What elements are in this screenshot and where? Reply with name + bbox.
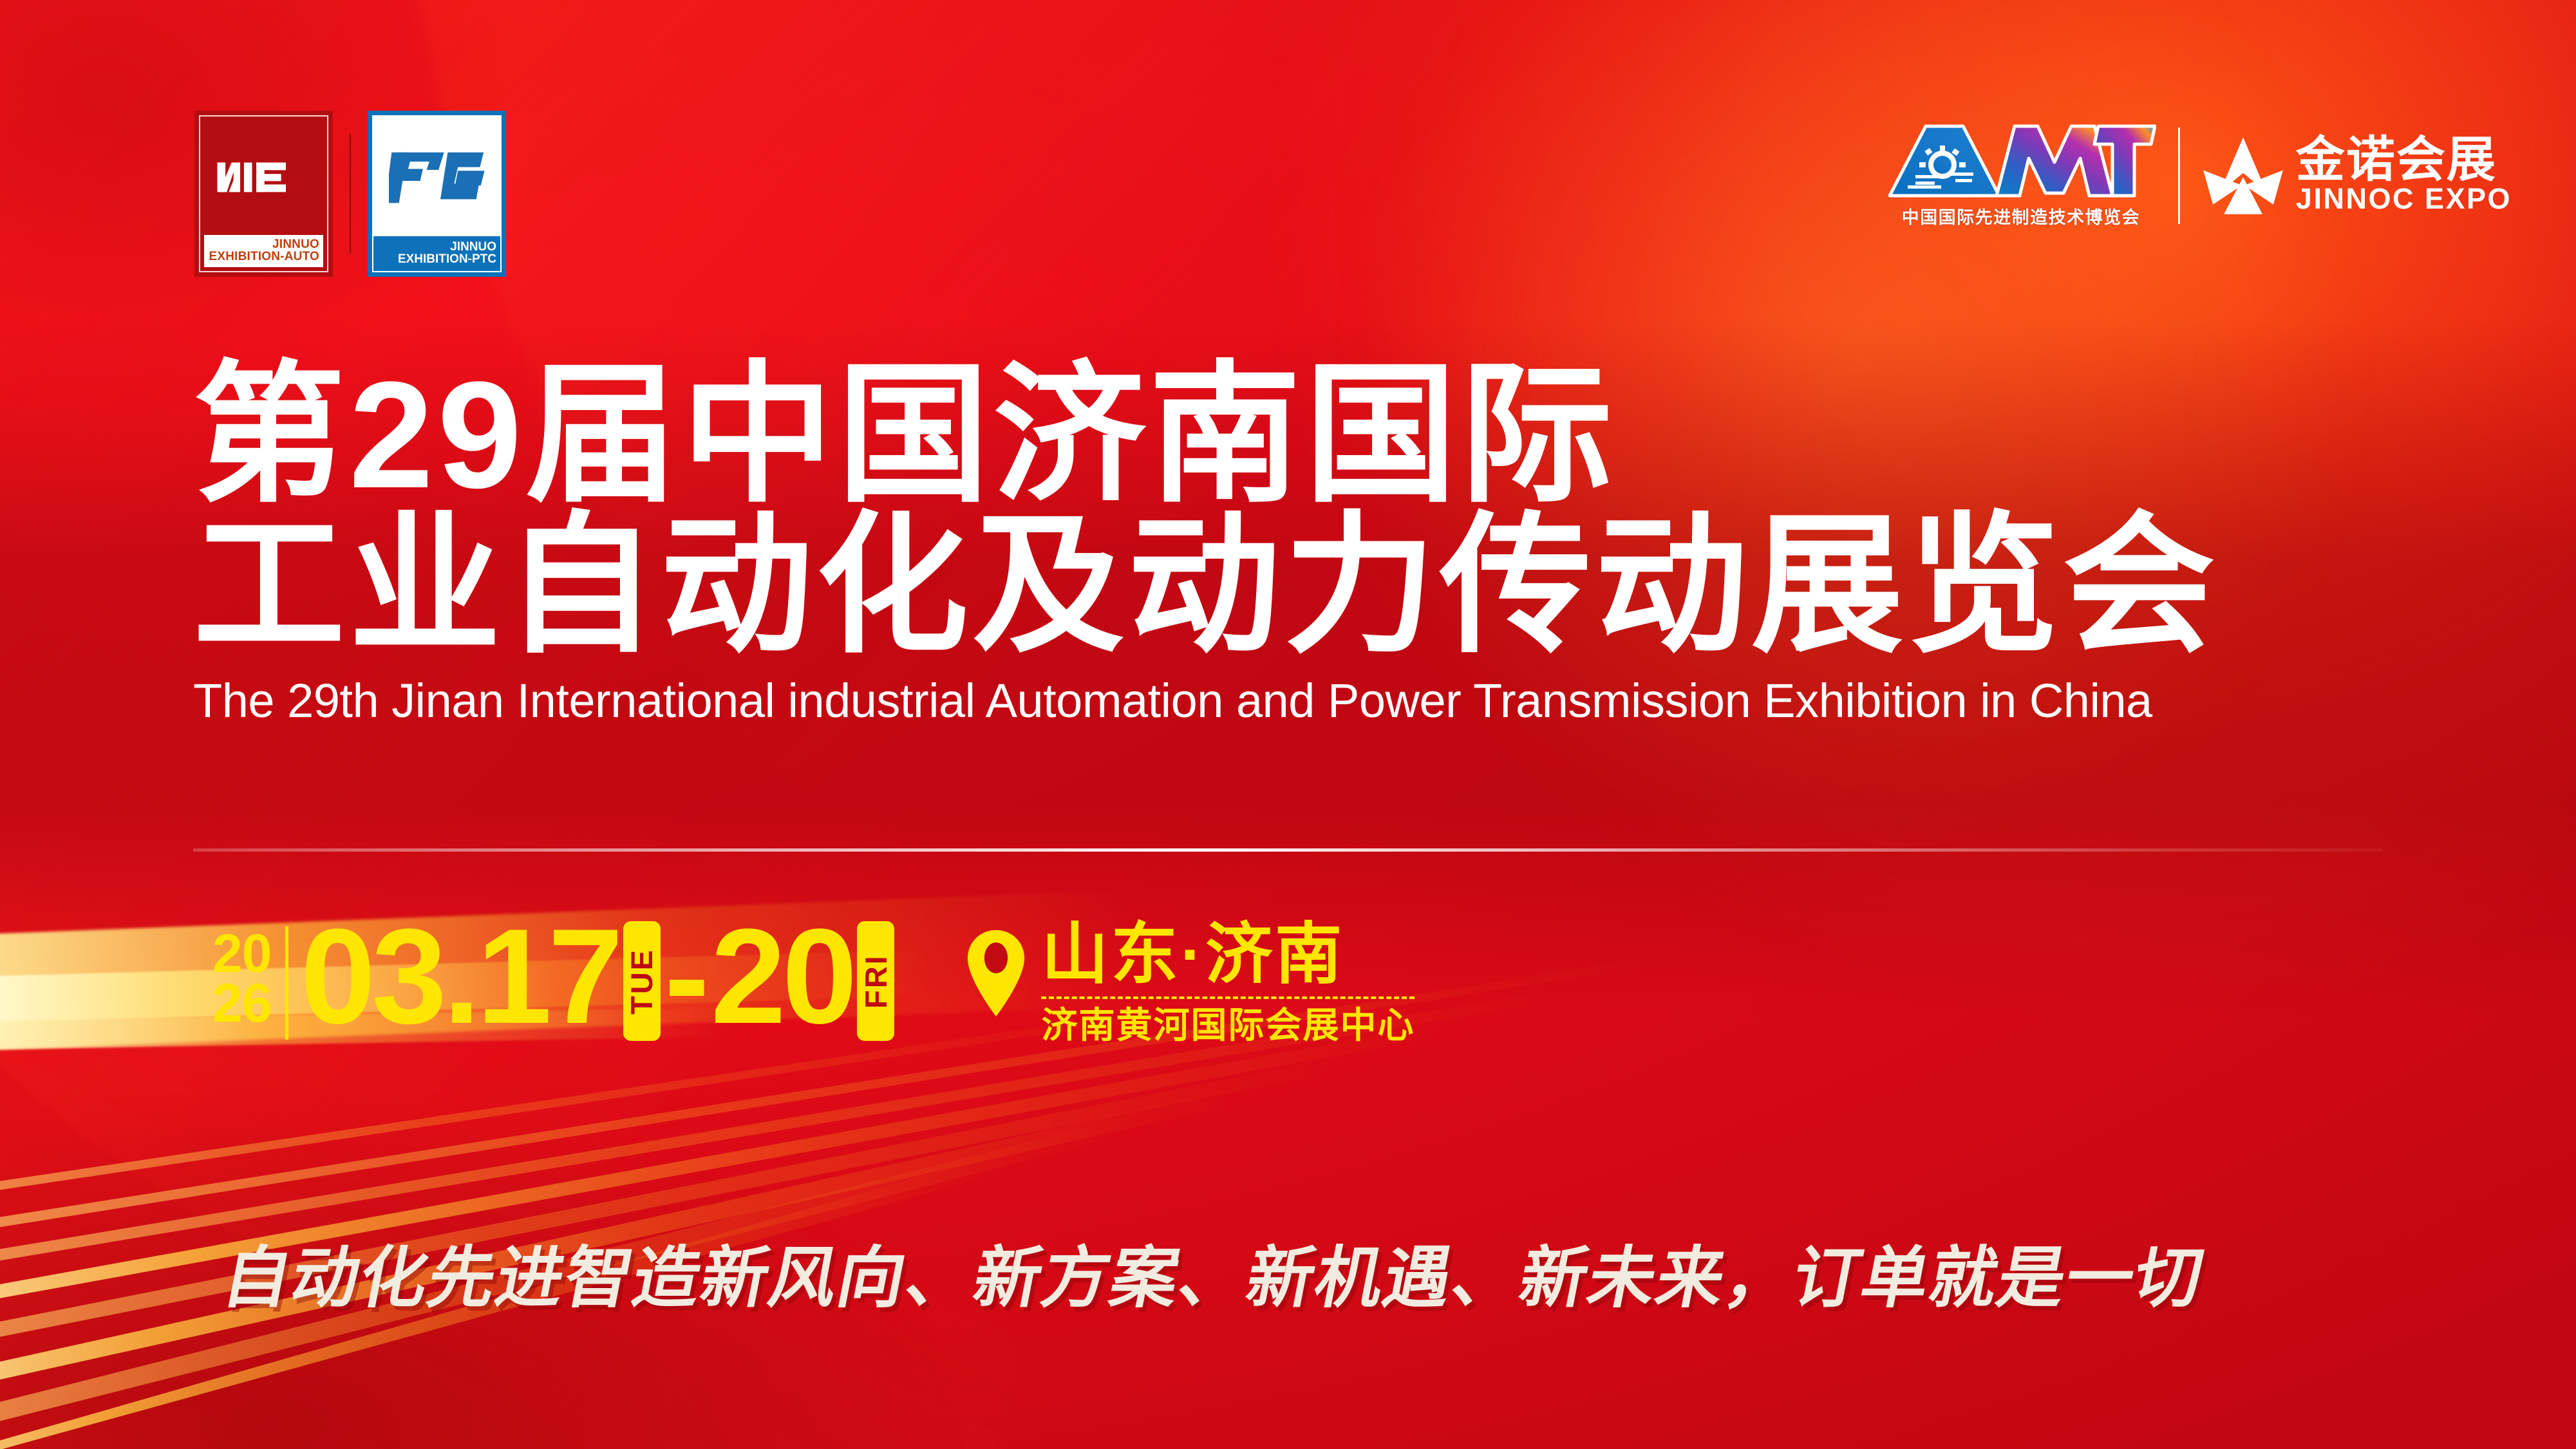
iaie-tag-line2: EXHIBITION-AUTO	[208, 250, 319, 263]
ptc-mark-icon	[373, 117, 500, 236]
ptc-tagline: JINNUO EXHIBITION-PTC	[373, 236, 500, 271]
title-line-2: 工业自动化及动力传动展览会	[193, 509, 2395, 664]
jinnoc-name-en: JINNOC EXPO	[2296, 183, 2512, 214]
event-date-separator: -	[664, 917, 710, 1036]
event-venue: 山东·济南 济南黄河国际会展中心	[965, 920, 1415, 1045]
organizer-logo-group: JINNUO EXHIBITION-AUTO	[194, 111, 506, 277]
event-slogan: 自动化先进智造新风向、新方案、新机遇、新未来，订单就是一切	[216, 1223, 2214, 1320]
event-year-bottom: 26	[212, 978, 271, 1028]
partner-divider	[2178, 127, 2180, 224]
year-date-separator	[285, 926, 288, 1040]
event-day-start-label: TUE	[624, 948, 659, 1014]
title-line-1: 第29届中国济南国际	[193, 360, 2395, 511]
iaie-logo: JINNUO EXHIBITION-AUTO	[194, 111, 333, 277]
event-year-top: 20	[212, 929, 271, 978]
event-day-end-badge: FRI	[857, 921, 894, 1041]
iaie-tagline: JINNUO EXHIBITION-AUTO	[204, 235, 323, 267]
event-date-end: 20	[711, 917, 854, 1036]
jinnoc-star-icon	[2202, 135, 2284, 217]
jinnoc-name-cn: 金诺会展	[2296, 137, 2512, 183]
event-day-start-badge: TUE	[623, 921, 661, 1041]
exhibition-poster: JINNUO EXHIBITION-AUTO	[0, 0, 2576, 1449]
location-pin-icon	[965, 929, 1027, 1018]
title-divider-rule	[193, 848, 2382, 852]
amt-subtitle: 中国国际先进制造技术博览会	[1902, 203, 2141, 229]
event-info-row: 20 26 03.17 TUE - 20 FRI 山东·济南 济南黄河国际会展中…	[212, 917, 1415, 1045]
ptc-tag-line2: EXHIBITION-PTC	[377, 253, 496, 266]
title-subtitle-english: The 29th Jinan International industrial …	[193, 675, 2395, 727]
event-date-start: 03.17	[300, 917, 619, 1036]
event-day-end-label: FRI	[858, 954, 894, 1009]
event-year: 20 26	[212, 929, 271, 1029]
venue-dashed-divider	[1041, 996, 1415, 999]
amt-mark-icon	[1886, 122, 2156, 200]
venue-name: 济南黄河国际会展中心	[1041, 1007, 1415, 1045]
ptc-tag-line1: JINNUO	[377, 241, 496, 253]
iaie-mark-icon	[204, 120, 323, 235]
iaie-tag-line1: JINNUO	[208, 238, 319, 250]
logo-divider	[350, 134, 351, 254]
jinnoc-logo: 金诺会展 JINNOC EXPO	[2202, 135, 2512, 217]
title-block: 第29届中国济南国际 工业自动化及动力传动展览会 The 29th Jinan …	[193, 360, 2395, 727]
amt-logo: 中国国际先进制造技术博览会	[1886, 122, 2156, 229]
ptc-logo: JINNUO EXHIBITION-PTC	[368, 111, 506, 277]
partner-logo-group: 中国国际先进制造技术博览会 金诺会展 JINNOC EXPO	[1886, 122, 2512, 229]
venue-city: 山东·济南	[1041, 920, 1415, 990]
event-date: 03.17 TUE - 20 FRI	[300, 917, 897, 1041]
